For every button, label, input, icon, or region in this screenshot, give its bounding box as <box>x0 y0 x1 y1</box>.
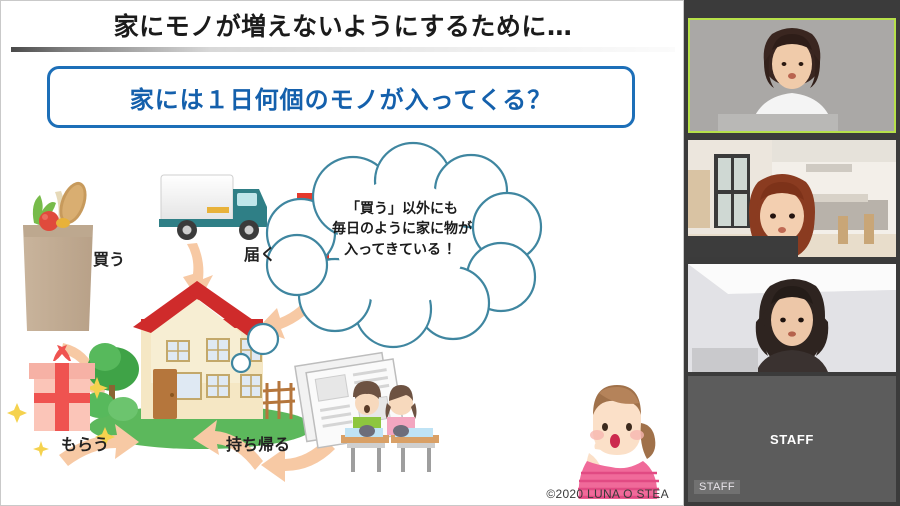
house-illustration <box>83 281 313 449</box>
video-feed-3 <box>688 264 896 372</box>
slide-title: 家にモノが増えないようにするために… <box>1 5 684 45</box>
participant-name-chip: STAFF <box>694 480 740 494</box>
illustration-canvas: 「買う」以外にも 毎日のように家に物が 入ってきている ！ <box>1 131 684 506</box>
subtitle-callout-box: 家には１日何個のモノが入ってくる？ <box>47 66 635 128</box>
subtitle-text: 家には１日何個のモノが入ってくる？ <box>130 80 553 115</box>
video-tile-2[interactable] <box>688 140 896 257</box>
thinking-girl-illustration <box>553 349 683 499</box>
delivery-truck-icon <box>159 175 267 240</box>
copyright-notice: ©2020 LUNA O STEA <box>546 487 669 501</box>
meeting-screen: 家にモノが増えないようにするために… 家には１日何個のモノが入ってくる？ <box>0 0 900 506</box>
shared-slide: 家にモノが増えないようにするために… 家には１日何個のモノが入ってくる？ <box>0 0 684 506</box>
video-feed-2 <box>688 140 896 257</box>
title-divider <box>11 47 675 52</box>
label-receive: もらう <box>61 431 109 455</box>
participant-video-rail: STAFF STAFF <box>684 0 900 506</box>
video-tile-3[interactable] <box>688 264 896 372</box>
video-tile-1[interactable] <box>688 18 896 133</box>
video-feed-1 <box>690 20 894 131</box>
students-desks-icon <box>341 381 439 472</box>
label-buy: 買う <box>93 246 125 270</box>
slide-title-text: 家にモノが増えないようにするために… <box>114 7 573 43</box>
bubble-line-2: 毎日のように家に物が <box>277 219 527 239</box>
label-bring-home: 持ち帰る <box>226 431 290 455</box>
video-tile-4-staff[interactable]: STAFF STAFF <box>688 376 896 502</box>
thought-bubble-text: 「買う」以外にも 毎日のように家に物が 入ってきている ！ <box>277 199 527 260</box>
grocery-bag-icon <box>23 178 93 331</box>
bubble-line-3: 入ってきている ！ <box>277 240 527 260</box>
label-deliver: 届く <box>244 241 276 265</box>
bubble-line-1: 「買う」以外にも <box>277 199 527 219</box>
